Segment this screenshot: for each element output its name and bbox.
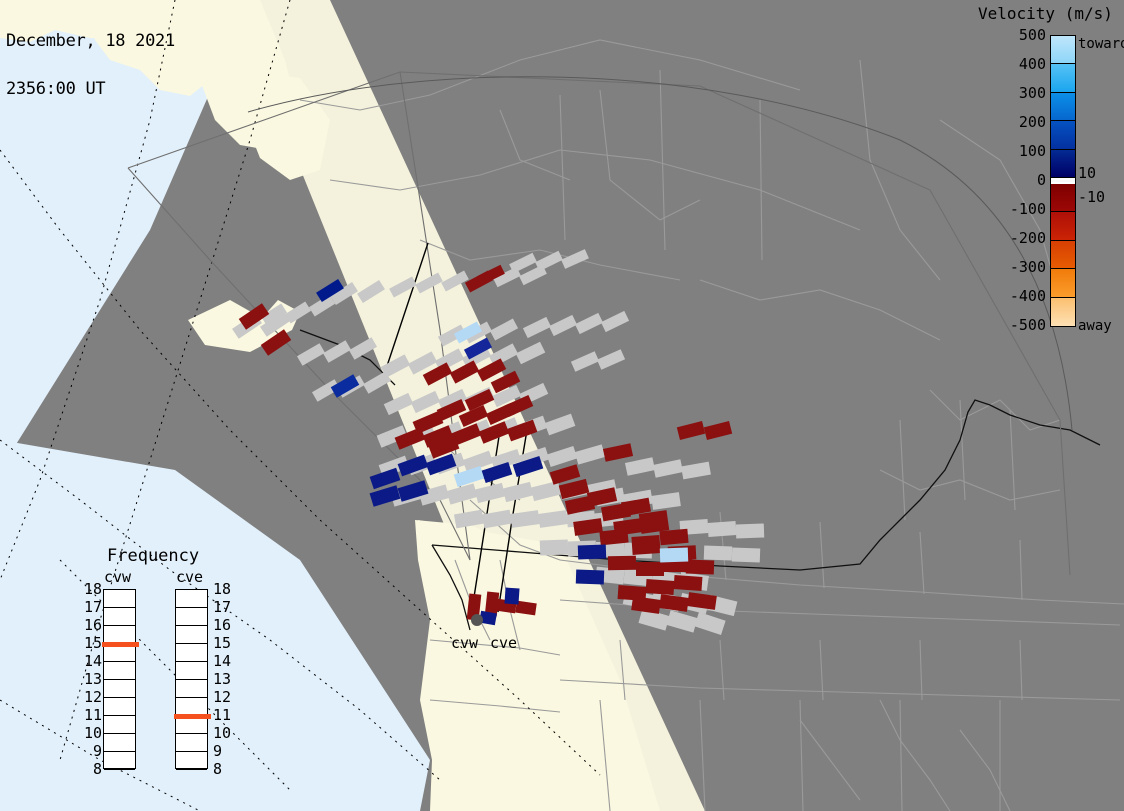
velocity-tick-label: -500 — [1010, 316, 1046, 334]
velocity-cell — [504, 588, 519, 605]
velocity-colorbar-title: Velocity (m/s) — [978, 4, 1113, 23]
velocity-cell — [636, 562, 664, 576]
frequency-bar[interactable] — [103, 589, 136, 769]
velocity-away-label: away — [1078, 318, 1112, 334]
velocity-cell — [576, 570, 604, 585]
velocity-cell — [639, 510, 670, 534]
frequency-bar-cell — [176, 734, 207, 752]
frequency-scale-label: 15 — [84, 634, 102, 652]
frequency-bar-cell — [104, 680, 135, 698]
velocity-tick-label: 100 — [1019, 142, 1046, 160]
velocity-band — [1051, 121, 1075, 149]
title-date: December, 18 2021 — [6, 33, 175, 49]
frequency-scale-label: 17 — [84, 598, 102, 616]
frequency-radar-name: cve — [176, 568, 203, 586]
velocity-colorbar[interactable] — [1050, 35, 1076, 327]
velocity-band — [1051, 184, 1075, 212]
frequency-bar-cell — [176, 626, 207, 644]
velocity-cell — [674, 575, 703, 591]
velocity-tick-label: -300 — [1010, 258, 1046, 276]
velocity-pos-threshold-label: 10 — [1078, 164, 1096, 182]
frequency-radar-name: cvw — [104, 568, 131, 586]
frequency-bar[interactable] — [175, 589, 208, 769]
frequency-scale-label: 13 — [84, 670, 102, 688]
velocity-band — [1051, 150, 1075, 178]
ground-scatter-cell — [736, 524, 764, 539]
frequency-scale-label: 10 — [84, 724, 102, 742]
frequency-scale-label: 14 — [213, 652, 231, 670]
frequency-scale-labels: 18171615141312111098 — [76, 589, 102, 769]
velocity-band — [1051, 269, 1075, 297]
frequency-scale-label: 16 — [84, 616, 102, 634]
frequency-bar-cell — [104, 590, 135, 608]
frequency-scale-label: 15 — [213, 634, 231, 652]
timestamp-title: December, 18 2021 2356:00 UT — [6, 1, 175, 129]
frequency-bar-cell — [176, 644, 207, 662]
frequency-scale-labels: 18171615141312111098 — [213, 589, 239, 769]
frequency-bar-cell — [104, 698, 135, 716]
velocity-tick-label: -200 — [1010, 229, 1046, 247]
frequency-scale-label: 9 — [213, 742, 222, 760]
frequency-bar-cell — [104, 752, 135, 770]
frequency-marker — [174, 714, 211, 719]
frequency-bar-cell — [176, 680, 207, 698]
frequency-bar-cell — [104, 662, 135, 680]
site-label-cvw: cvw — [451, 634, 478, 652]
frequency-marker — [102, 642, 139, 647]
velocity-band — [1051, 241, 1075, 269]
velocity-cell — [631, 535, 660, 555]
frequency-scale-label: 17 — [213, 598, 231, 616]
frequency-scale-label: 11 — [84, 706, 102, 724]
velocity-neg-threshold-label: -10 — [1078, 188, 1105, 206]
site-label-cve: cve — [490, 634, 517, 652]
velocity-toward-label: toward — [1078, 36, 1124, 52]
ground-scatter-cell — [704, 546, 732, 561]
velocity-band — [1051, 298, 1075, 326]
velocity-tick-label: 500 — [1019, 26, 1046, 44]
velocity-tick-label: -400 — [1010, 287, 1046, 305]
frequency-scale-label: 14 — [84, 652, 102, 670]
velocity-cell — [659, 529, 688, 545]
frequency-legend-title: Frequency — [107, 546, 199, 566]
frequency-scale-label: 12 — [84, 688, 102, 706]
frequency-scale-label: 8 — [93, 760, 102, 778]
frequency-scale-label: 11 — [213, 706, 231, 724]
frequency-scale-label: 16 — [213, 616, 231, 634]
frequency-scale-label: 13 — [213, 670, 231, 688]
ground-scatter-cell — [732, 548, 760, 563]
velocity-cell — [608, 556, 636, 570]
frequency-bar-cell — [176, 590, 207, 608]
frequency-scale-label: 18 — [213, 580, 231, 598]
frequency-bar-cell — [104, 734, 135, 752]
ground-scatter-cell — [540, 540, 569, 556]
frequency-scale-label: 10 — [213, 724, 231, 742]
title-time: 2356:00 UT — [6, 81, 175, 97]
velocity-cell — [646, 579, 675, 595]
frequency-bar-cell — [104, 608, 135, 626]
radar-map-view: December, 18 2021 2356:00 UT cvw cve Vel… — [0, 0, 1124, 811]
velocity-band — [1051, 212, 1075, 240]
velocity-tick-label: 0 — [1037, 171, 1046, 189]
velocity-tick-label: 300 — [1019, 84, 1046, 102]
velocity-band — [1051, 36, 1075, 64]
frequency-scale-label: 18 — [84, 580, 102, 598]
velocity-band — [1051, 64, 1075, 92]
velocity-cell — [578, 545, 606, 560]
velocity-tick-label: 200 — [1019, 113, 1046, 131]
velocity-band — [1051, 93, 1075, 121]
frequency-bar-cell — [176, 752, 207, 770]
velocity-tick-label: -100 — [1010, 200, 1046, 218]
ground-scatter-cell — [708, 521, 737, 537]
velocity-cell — [660, 548, 688, 563]
frequency-bar-cell — [176, 608, 207, 626]
velocity-tick-label: 400 — [1019, 55, 1046, 73]
velocity-cell — [686, 560, 714, 575]
frequency-scale-label: 12 — [213, 688, 231, 706]
radar-site-marker[interactable] — [471, 614, 483, 626]
frequency-scale-label: 9 — [93, 742, 102, 760]
frequency-bar-cell — [104, 716, 135, 734]
frequency-scale-label: 8 — [213, 760, 222, 778]
frequency-bar-cell — [176, 662, 207, 680]
